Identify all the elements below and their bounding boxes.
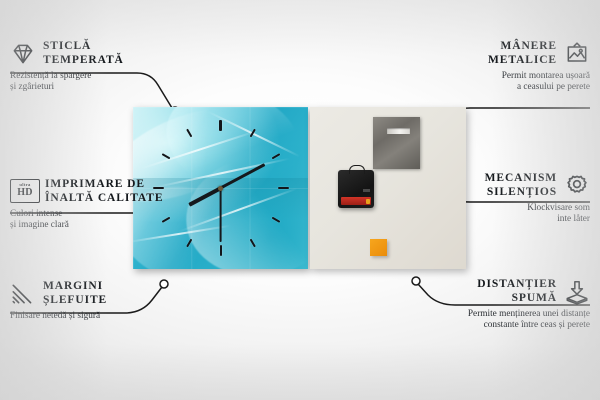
callout-subtitle: Culori intense și imagine clară [10, 209, 163, 232]
foam-spacer-pad [370, 239, 387, 256]
callout-polished-edges: MARGINI ȘLEFUITE Finisare netedă și sigu… [10, 280, 107, 322]
clock-back-panel [310, 107, 466, 269]
callout-high-quality-print: ultra HD IMPRIMARE DE ÎNALTĂ CALITATE Cu… [10, 178, 163, 232]
ultra-hd-icon: ultra HD [10, 179, 38, 205]
callout-title: IMPRIMARE DE ÎNALTĂ CALITATE [45, 178, 163, 205]
polished-edges-icon [10, 281, 36, 307]
callout-subtitle: Permite menținerea unei distanțe constan… [468, 309, 590, 332]
callout-title: DISTANȚIER SPUMĂ [477, 278, 557, 305]
metal-hanger-plate [373, 117, 420, 169]
callout-subtitle: Klockvisare som inte låter [485, 203, 590, 226]
picture-hanger-icon [564, 41, 590, 67]
clock-second-hand [220, 188, 222, 242]
callout-foam-spacer: DISTANȚIER SPUMĂ Permite menținerea unei… [468, 278, 590, 332]
callout-title: MÂNERE METALICE [488, 40, 557, 67]
infographic-canvas: STICLĂ TEMPERATĂ Rezistență la spargere … [0, 0, 600, 400]
product-image [133, 107, 466, 269]
hanger-slot [387, 128, 410, 134]
gear-icon [564, 173, 590, 199]
callout-title: MARGINI ȘLEFUITE [43, 280, 107, 307]
clock-center-pin [218, 186, 223, 191]
hd-label: HD [17, 188, 32, 198]
callout-title: MECANISM SILENȚIOS [485, 172, 557, 199]
press-down-pad-icon [564, 279, 590, 305]
callout-title: STICLĂ TEMPERATĂ [43, 40, 124, 67]
callout-subtitle: Finisare netedă și sigură [10, 311, 107, 322]
mechanism-terminal [363, 189, 370, 192]
callout-tempered-glass: STICLĂ TEMPERATĂ Rezistență la spargere … [10, 40, 124, 94]
battery [341, 197, 371, 205]
callout-subtitle: Permit montarea ușoară a ceasului pe per… [488, 71, 590, 94]
quartz-mechanism [338, 170, 374, 208]
leader-dot-foam-spacer [412, 277, 420, 285]
leader-dot-polished-edges [160, 280, 168, 288]
diamond-icon [10, 41, 36, 67]
callout-metal-handles: MÂNERE METALICE Permit montarea ușoară a… [488, 40, 590, 94]
callout-silent-mechanism: MECANISM SILENȚIOS Klockvisare som inte … [485, 172, 590, 226]
callout-subtitle: Rezistență la spargere și zgârieturi [10, 71, 124, 94]
mechanism-hook [349, 165, 365, 174]
